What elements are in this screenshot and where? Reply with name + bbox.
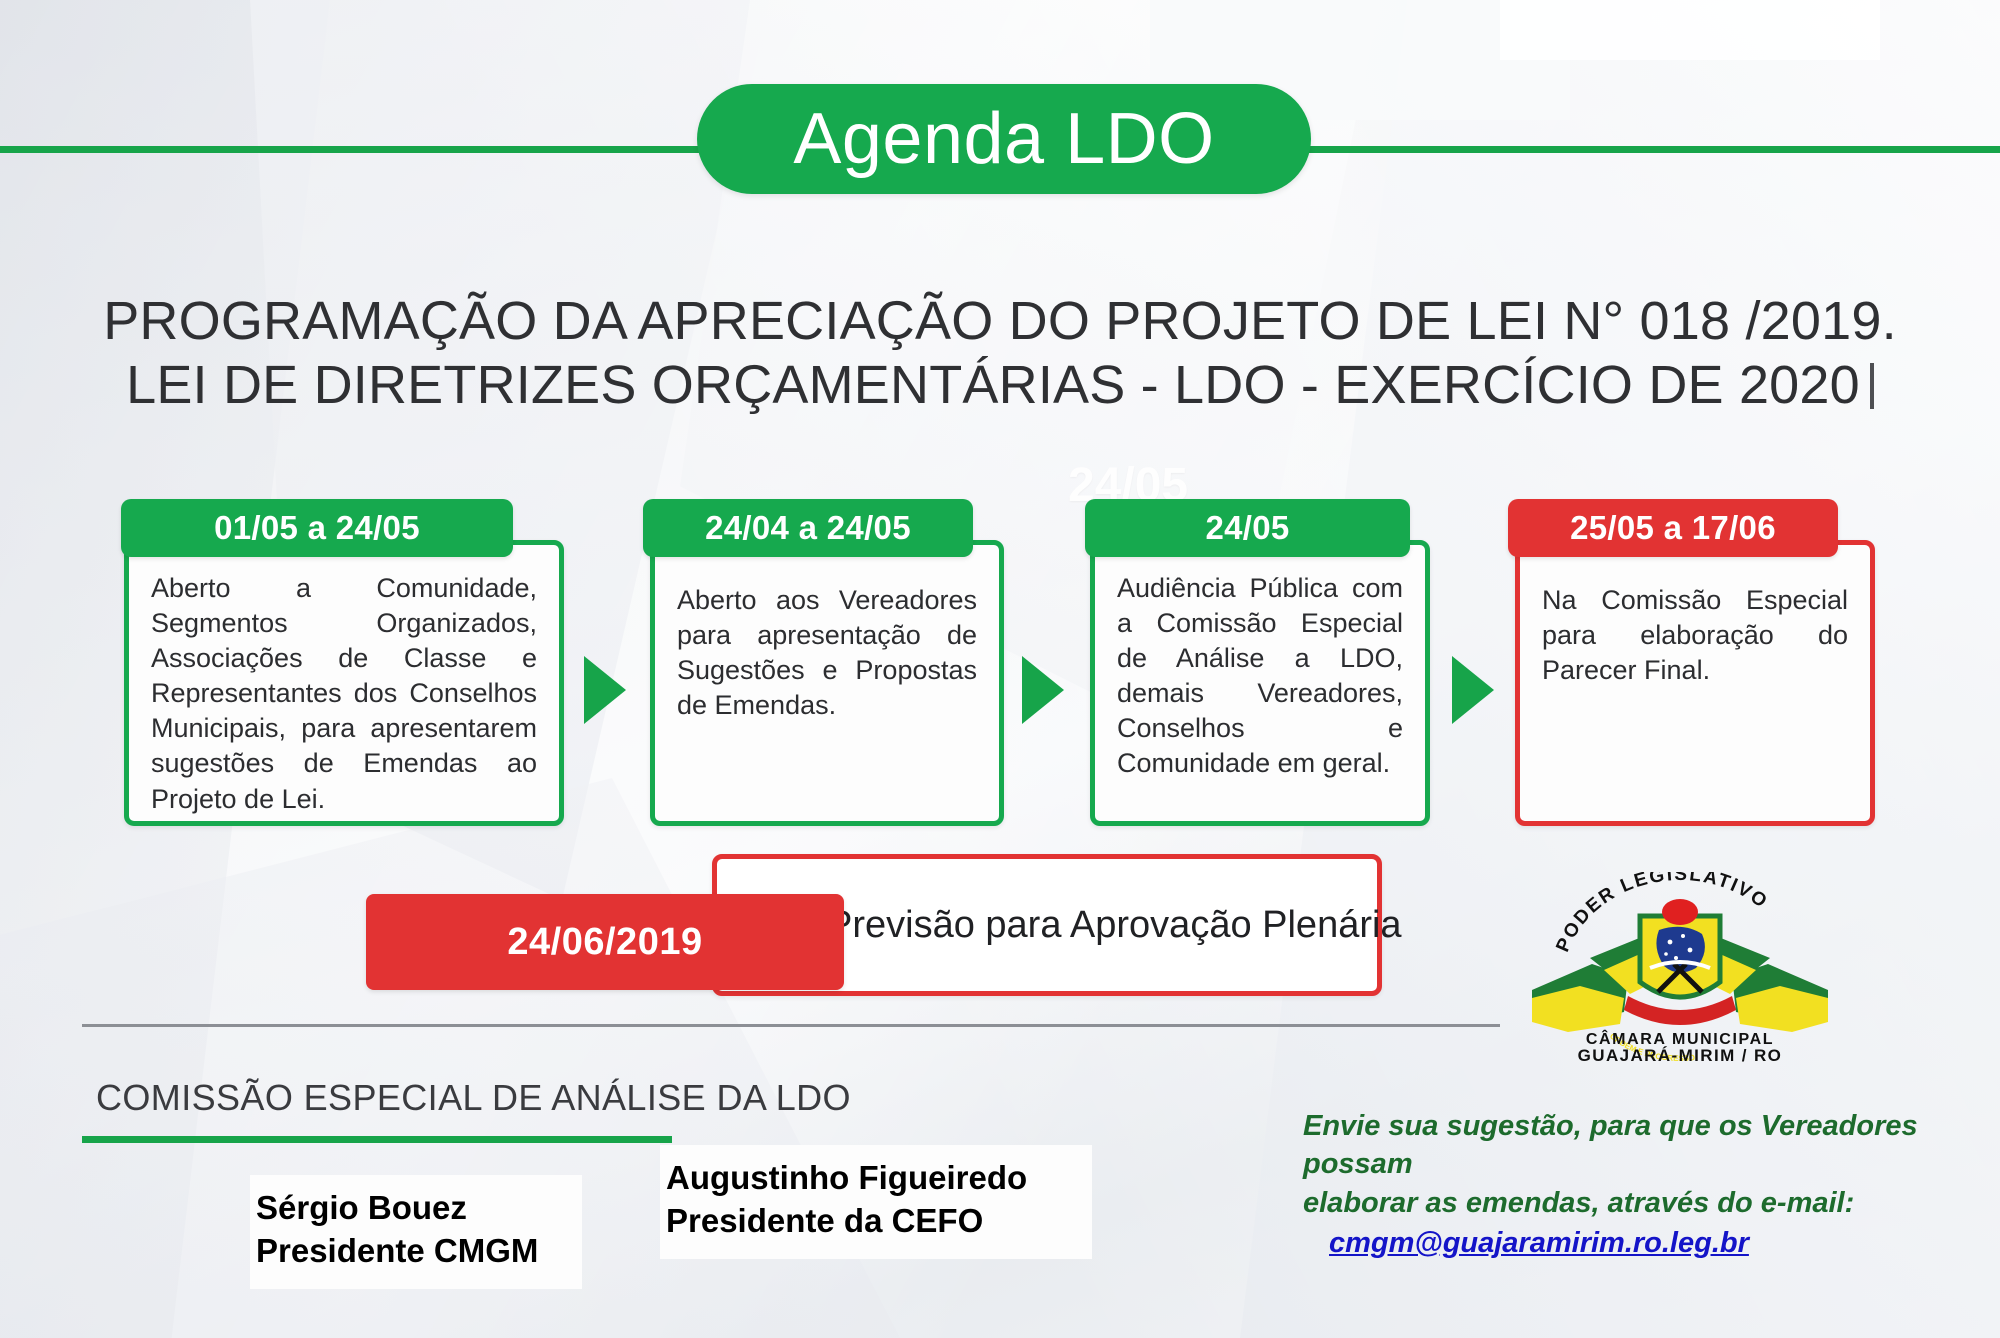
timeline-card-text: Aberto a Comunidade, Segmentos Organizad…	[129, 545, 559, 831]
background-facet	[1500, 0, 1880, 60]
timeline-card[interactable]: 01/05 a 24/05 Aberto a Comunidade, Segme…	[124, 540, 564, 826]
plenary-date-badge: 24/06/2019	[366, 894, 844, 990]
timeline-card-header: 01/05 a 24/05	[121, 499, 513, 557]
timeline-card-date: 24/05	[1205, 509, 1289, 547]
commission-member-role: Presidente da CEFO	[666, 1200, 1086, 1243]
plenary-label: Previsão para Aprovação Plenária	[827, 904, 1402, 947]
timeline-card-date: 01/05 a 24/05	[214, 509, 420, 547]
arrow-right-icon	[1452, 656, 1494, 724]
commission-member-name: Augustinho Figueiredo	[666, 1157, 1086, 1200]
email-note: Envie sua sugestão, para que os Vereador…	[1303, 1107, 2000, 1262]
timeline-card[interactable]: 25/05 a 17/06 Na Comissão Especial para …	[1515, 540, 1875, 826]
timeline-card-header: 24/05	[1085, 499, 1410, 557]
section-divider	[82, 1024, 1500, 1027]
banner-title: Agenda LDO	[793, 103, 1214, 175]
timeline-card-text: Aberto aos Vereadores para apresentação …	[655, 545, 999, 737]
email-note-line2: elaborar as emendas, através do e-mail:	[1303, 1184, 2000, 1222]
timeline-card-date: 24/04 a 24/05	[705, 509, 911, 547]
timeline-card[interactable]: 24/05 Audiência Pública com a Comissão E…	[1090, 540, 1430, 826]
email-note-line1: Envie sua sugestão, para que os Vereador…	[1303, 1107, 2000, 1184]
commission-underline	[82, 1136, 672, 1143]
arrow-right-icon	[1022, 656, 1064, 724]
commission-title: COMISSÃO ESPECIAL DE ANÁLISE DA LDO	[96, 1077, 851, 1119]
timeline-card-header: 24/04 a 24/05	[643, 499, 973, 557]
page-title: PROGRAMAÇÃO DA APRECIAÇÃO DO PROJETO DE …	[0, 290, 2000, 417]
commission-member: Sérgio Bouez Presidente CMGM	[250, 1175, 582, 1289]
arrow-right-icon	[584, 656, 626, 724]
page-title-line1: PROGRAMAÇÃO DA APRECIAÇÃO DO PROJETO DE …	[0, 290, 2000, 354]
coat-of-arms-logo: ORDEM E PROGRESSO PODER LEGISLATIVO CÂMA…	[1520, 872, 1840, 1062]
timeline: 01/05 a 24/05 Aberto a Comunidade, Segme…	[0, 506, 2000, 816]
plenary-date-text: 24/06/2019	[507, 921, 702, 964]
page-title-line2: LEI DE DIRETRIZES ORÇAMENTÁRIAS - LDO - …	[126, 355, 1860, 415]
email-link[interactable]: cmgm@guajaramirim.ro.leg.br	[1329, 1224, 2000, 1262]
timeline-card-text: Audiência Pública com a Comissão Especia…	[1095, 545, 1425, 796]
text-cursor-icon	[1870, 363, 1874, 409]
commission-member: Augustinho Figueiredo Presidente da CEFO	[660, 1145, 1092, 1259]
banner-title-pill: Agenda LDO	[697, 84, 1311, 194]
timeline-card[interactable]: 24/04 a 24/05 Aberto aos Vereadores para…	[650, 540, 1004, 826]
commission-member-role: Presidente CMGM	[256, 1230, 576, 1273]
crest-bottom-text: GUAJARÁ-MIRIM / RO	[1578, 1046, 1783, 1062]
commission-member-name: Sérgio Bouez	[256, 1187, 576, 1230]
timeline-card-text: Na Comissão Especial para elaboração do …	[1520, 545, 1870, 702]
timeline-card-header: 25/05 a 17/06	[1508, 499, 1838, 557]
infographic-canvas: Agenda LDO PROGRAMAÇÃO DA APRECIAÇÃO DO …	[0, 0, 2000, 1338]
timeline-card-date: 25/05 a 17/06	[1570, 509, 1776, 547]
page-title-line2-wrap: LEI DE DIRETRIZES ORÇAMENTÁRIAS - LDO - …	[126, 354, 1874, 418]
